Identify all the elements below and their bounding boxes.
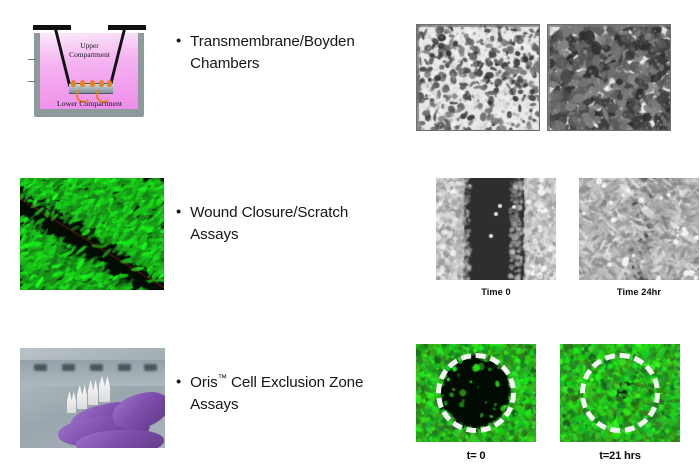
- exclusion-zone-ring: [436, 353, 516, 433]
- cell-on-membrane: [107, 80, 112, 87]
- exclusion-zone-ring: [580, 353, 660, 433]
- cell-on-membrane: [71, 80, 76, 87]
- transwell-boyden-chamber-diagram: Upper Compartment Lower Compartment: [20, 25, 159, 117]
- cell-on-membrane: [99, 80, 104, 87]
- filter-image-high-density-wrap: [547, 24, 671, 131]
- cell-on-membrane: [90, 80, 95, 87]
- shelf-slot: [144, 364, 157, 371]
- row-wound-closure: • Wound Closure/Scratch Assays Time 0 Ti…: [0, 158, 700, 316]
- oris-exclusion-zone-image-pair: t= 0 t=21 hrs: [416, 344, 680, 462]
- slide-canvas: Upper Compartment Lower Compartment • Tr…: [0, 0, 700, 475]
- bullet-marker-icon: •: [176, 372, 181, 393]
- transwell-tick-mark: [28, 81, 36, 82]
- bullet-oris-label: Oris™ Cell Exclusion Zone Assays: [190, 372, 391, 415]
- filter-image-low-density-wrap: [416, 24, 540, 131]
- oris-image-t21-caption: t=21 hrs: [560, 450, 680, 462]
- bullet-marker-icon: •: [176, 31, 181, 52]
- oris-image-t21-wrap: t=21 hrs: [560, 344, 680, 462]
- wound-image-time-0: [436, 178, 556, 280]
- oris-stopper: [67, 391, 76, 413]
- filter-image-high-density: [547, 24, 671, 131]
- wound-image-time-0-wrap: Time 0: [436, 178, 556, 297]
- wound-image-time-24hr-wrap: Time 24hr: [579, 178, 699, 297]
- row-oris-exclusion: • Oris™ Cell Exclusion Zone Assays t= 0 …: [0, 316, 700, 475]
- cell-on-membrane: [80, 80, 85, 87]
- oris-brand: Oris: [190, 374, 217, 391]
- porous-membrane: [69, 83, 113, 94]
- gloved-hand-holding-oris-stoppers-photo: [20, 348, 165, 448]
- wound-image-time-24hr-caption: Time 24hr: [579, 287, 699, 297]
- shelf-slot: [118, 364, 131, 371]
- oris-image-t0-wrap: t= 0: [416, 344, 536, 462]
- green-fluorescent-scratch-image: [20, 178, 164, 290]
- shelf-slot: [34, 364, 47, 371]
- shelf-slot: [90, 364, 103, 371]
- bullet-transmembrane: • Transmembrane/Boyden Chambers: [176, 31, 391, 74]
- shelf-slot: [62, 364, 75, 371]
- row-transmembrane: Upper Compartment Lower Compartment • Tr…: [0, 0, 700, 158]
- wound-image-time-0-caption: Time 0: [436, 287, 556, 297]
- oris-image-t0-caption: t= 0: [416, 450, 536, 462]
- bullet-transmembrane-label: Transmembrane/Boyden Chambers: [190, 31, 391, 74]
- oris-stopper: [77, 385, 87, 409]
- trademark-symbol: ™: [218, 372, 227, 383]
- upper-compartment-label-line2: Compartment: [69, 50, 110, 59]
- wound-closure-image-pair: Time 0 Time 24hr: [436, 178, 699, 297]
- filter-image-low-density: [416, 24, 540, 131]
- upper-compartment-label-line1: Upper: [80, 41, 98, 50]
- bullet-wound-closure-label: Wound Closure/Scratch Assays: [190, 202, 391, 245]
- bullet-marker-icon: •: [176, 202, 181, 223]
- oris-image-t21: [560, 344, 680, 442]
- bullet-oris: • Oris™ Cell Exclusion Zone Assays: [176, 372, 391, 415]
- wound-image-time-24hr: [579, 178, 699, 280]
- transmembrane-filter-pair: [416, 24, 671, 131]
- upper-compartment-label: Upper Compartment: [20, 42, 159, 59]
- lower-compartment-label: Lower Compartment: [20, 99, 159, 108]
- oris-image-t0: [416, 344, 536, 442]
- bullet-wound-closure: • Wound Closure/Scratch Assays: [176, 202, 391, 245]
